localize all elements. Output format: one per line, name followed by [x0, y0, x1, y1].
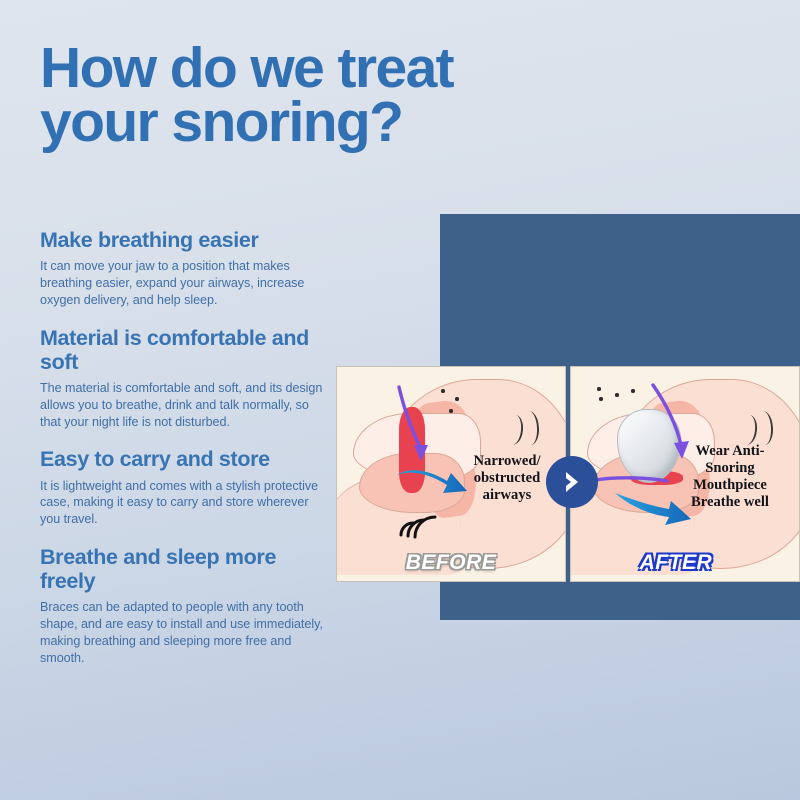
before-caption: Narrowed/ obstructed airways — [455, 453, 559, 504]
feature-item-material: Material is comfortable and soft The mat… — [40, 326, 332, 431]
feature-body: It can move your jaw to a position that … — [40, 258, 332, 309]
feature-heading: Breathe and sleep more freely — [40, 545, 332, 593]
page-title: How do we treat your snoring? — [40, 42, 680, 149]
airflow-dot — [597, 387, 601, 391]
title-line-2: your snoring? — [40, 96, 680, 150]
before-panel: Narrowed/ obstructed airways BEFORE — [336, 366, 566, 582]
chevron-right-icon[interactable] — [546, 456, 598, 508]
feature-list: Make breathing easier It can move your j… — [40, 228, 332, 684]
title-line-1: How do we treat — [40, 42, 680, 96]
feature-item-sleep: Breathe and sleep more freely Braces can… — [40, 545, 332, 667]
feature-body: Braces can be adapted to people with any… — [40, 599, 332, 667]
airflow-arrow-icon — [389, 383, 453, 471]
feature-item-portability: Easy to carry and store It is lightweigh… — [40, 447, 332, 528]
infographic-poster: How do we treat your snoring? Make breat… — [0, 0, 800, 800]
after-panel: Wear Anti-Snoring Mouthpiece Breathe wel… — [570, 366, 800, 582]
feature-item-breathing: Make breathing easier It can move your j… — [40, 228, 332, 309]
airflow-dot — [615, 393, 619, 397]
feature-heading: Make breathing easier — [40, 228, 332, 252]
feature-body: It is lightweight and comes with a styli… — [40, 478, 332, 529]
feature-heading: Easy to carry and store — [40, 447, 332, 471]
airflow-dot — [599, 397, 603, 401]
before-stamp: BEFORE — [406, 551, 497, 575]
snore-sound-waves-icon — [395, 509, 439, 539]
after-caption: Wear Anti-Snoring Mouthpiece Breathe wel… — [671, 443, 789, 511]
airflow-dot — [631, 389, 635, 393]
feature-heading: Material is comfortable and soft — [40, 326, 332, 374]
after-stamp: AFTER — [640, 551, 713, 575]
nostril-dot — [455, 397, 459, 401]
feature-body: The material is comfortable and soft, an… — [40, 380, 332, 431]
